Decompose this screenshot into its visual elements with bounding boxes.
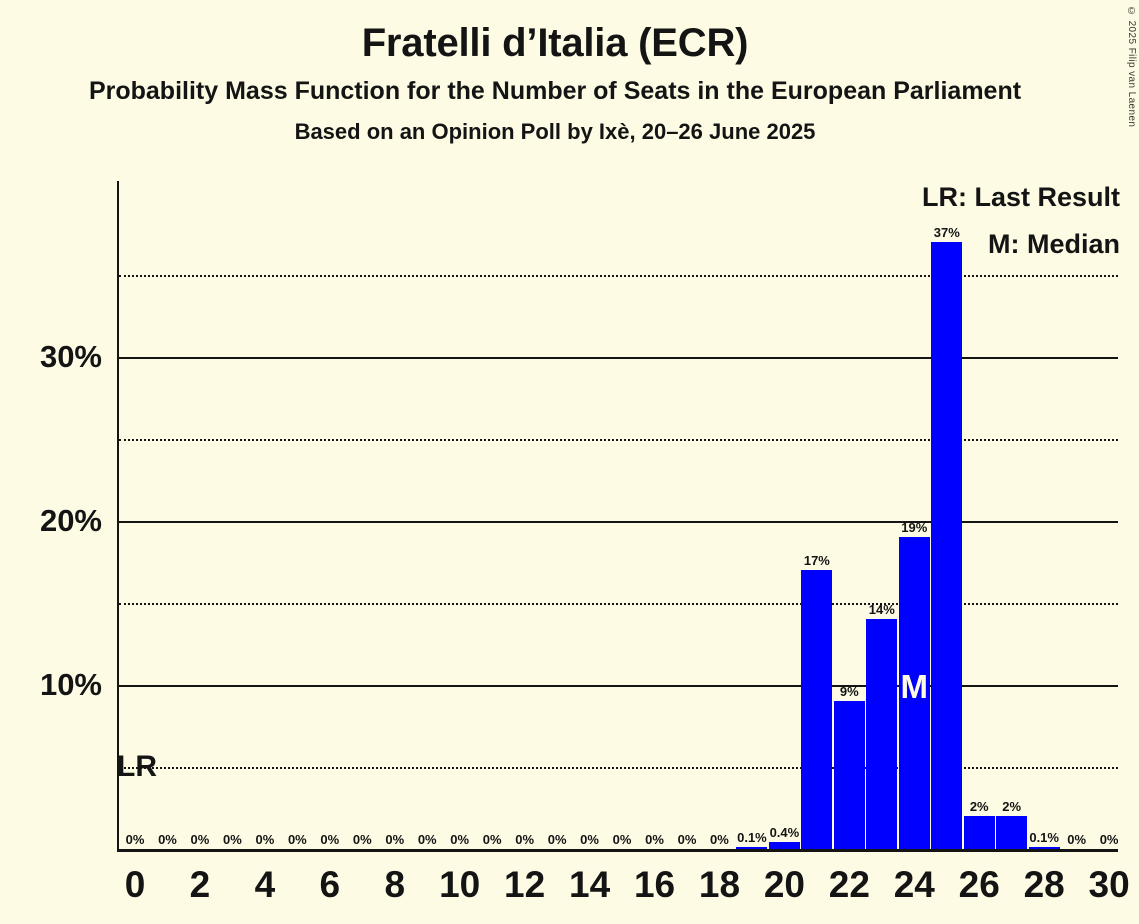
x-tick-label-12: 12 [504, 864, 545, 906]
bar-value-label-seat-21: 17% [804, 553, 830, 568]
bar-value-label-seat-7: 0% [353, 832, 372, 847]
chart-source-note: Based on an Opinion Poll by Ixè, 20–26 J… [0, 120, 1110, 143]
bar-seat-26 [964, 816, 995, 849]
x-tick-label-24: 24 [894, 864, 935, 906]
copyright-notice: © 2025 Filip van Laenen [1126, 6, 1137, 127]
bar-value-label-seat-12: 0% [515, 832, 534, 847]
bar-value-label-seat-11: 0% [483, 832, 502, 847]
y-axis-line [117, 181, 119, 849]
bar-value-label-seat-22: 9% [840, 684, 859, 699]
bar-value-label-seat-4: 0% [255, 832, 274, 847]
gridline-minor-5 [119, 767, 1118, 769]
bar-value-label-seat-1: 0% [158, 832, 177, 847]
bar-seat-28 [1029, 847, 1060, 849]
y-tick-label-20%: 20% [40, 503, 102, 539]
bar-value-label-seat-3: 0% [223, 832, 242, 847]
bar-value-label-seat-27: 2% [1002, 799, 1021, 814]
bar-value-label-seat-5: 0% [288, 832, 307, 847]
bar-value-label-seat-20: 0.4% [770, 825, 800, 840]
bar-value-label-seat-23: 14% [869, 602, 895, 617]
gridline-minor-25 [119, 439, 1118, 441]
bar-seat-19 [736, 847, 767, 849]
x-tick-label-28: 28 [1024, 864, 1065, 906]
bar-value-label-seat-28: 0.1% [1029, 830, 1059, 845]
bar-value-label-seat-19: 0.1% [737, 830, 767, 845]
bar-value-label-seat-9: 0% [418, 832, 437, 847]
x-tick-label-18: 18 [699, 864, 740, 906]
bar-seat-25 [931, 242, 962, 849]
bar-value-label-seat-18: 0% [710, 832, 729, 847]
bar-value-label-seat-17: 0% [678, 832, 697, 847]
bar-value-label-seat-13: 0% [548, 832, 567, 847]
bar-value-label-seat-30: 0% [1100, 832, 1119, 847]
bar-seat-20 [769, 842, 800, 849]
bar-value-label-seat-16: 0% [645, 832, 664, 847]
x-tick-label-8: 8 [384, 864, 405, 906]
x-axis-labels: 024681012141618202224262830 [0, 864, 1139, 924]
bar-seat-23 [866, 619, 897, 849]
y-tick-label-10%: 10% [40, 667, 102, 703]
gridline-minor-35 [119, 275, 1118, 277]
bar-value-label-seat-29: 0% [1067, 832, 1086, 847]
x-tick-label-16: 16 [634, 864, 675, 906]
bar-value-label-seat-15: 0% [613, 832, 632, 847]
gridline-major-20 [119, 521, 1118, 523]
y-axis-labels: 10%20%30% [0, 181, 110, 849]
bar-value-label-seat-6: 0% [320, 832, 339, 847]
x-tick-label-2: 2 [190, 864, 211, 906]
gridline-major-10 [119, 685, 1118, 687]
bar-value-label-seat-25: 37% [934, 225, 960, 240]
x-tick-label-30: 30 [1089, 864, 1130, 906]
x-tick-label-10: 10 [439, 864, 480, 906]
y-tick-label-30%: 30% [40, 339, 102, 375]
x-tick-label-22: 22 [829, 864, 870, 906]
bar-value-label-seat-8: 0% [385, 832, 404, 847]
bar-value-label-seat-0: 0% [126, 832, 145, 847]
bar-seat-21 [801, 570, 832, 849]
x-tick-label-6: 6 [320, 864, 341, 906]
bar-seat-24 [899, 537, 930, 849]
x-tick-label-14: 14 [569, 864, 610, 906]
bar-value-label-seat-10: 0% [450, 832, 469, 847]
x-tick-label-20: 20 [764, 864, 805, 906]
x-tick-label-0: 0 [125, 864, 146, 906]
bar-value-label-seat-14: 0% [580, 832, 599, 847]
x-tick-label-26: 26 [959, 864, 1000, 906]
chart-title: Fratelli d’Italia (ECR) [0, 22, 1110, 64]
bar-seat-27 [996, 816, 1027, 849]
plot-area: 0%0%0%0%0%0%0%0%0%0%0%0%0%0%0%0%0%0%0%0.… [119, 181, 1118, 849]
chart-subtitle: Probability Mass Function for the Number… [0, 78, 1110, 104]
x-axis-line [117, 849, 1118, 852]
gridline-minor-15 [119, 603, 1118, 605]
bar-value-label-seat-24: 19% [901, 520, 927, 535]
title-block: Fratelli d’Italia (ECR) Probability Mass… [0, 0, 1110, 143]
gridline-major-30 [119, 357, 1118, 359]
x-tick-label-4: 4 [255, 864, 276, 906]
bar-seat-22 [834, 701, 865, 849]
bar-value-label-seat-26: 2% [970, 799, 989, 814]
bar-value-label-seat-2: 0% [191, 832, 210, 847]
